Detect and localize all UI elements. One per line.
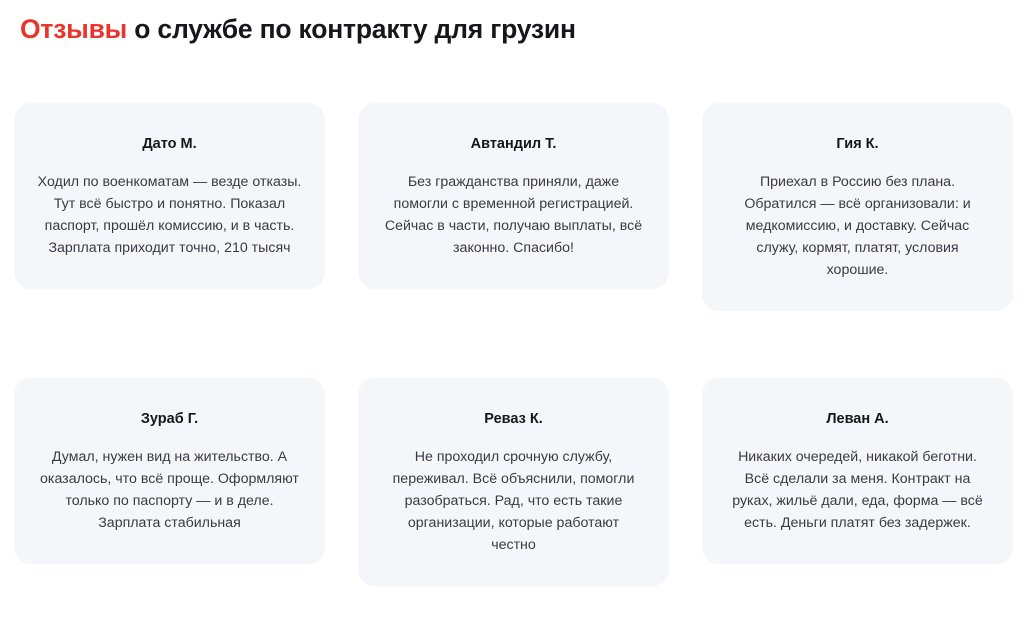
review-author: Реваз К. — [380, 410, 647, 428]
reviews-grid: Дато М. Ходил по военкоматам — везде отк… — [14, 103, 1013, 586]
page-title-rest: о службе по контракту для грузин — [127, 14, 576, 44]
page-title-accent: Отзывы — [20, 14, 127, 44]
review-card: Дато М. Ходил по военкоматам — везде отк… — [14, 103, 325, 289]
review-author: Леван А. — [724, 410, 991, 428]
review-card: Зураб Г. Думал, нужен вид на жительство.… — [14, 378, 325, 564]
page-title: Отзывы о службе по контракту для грузин — [20, 12, 576, 46]
review-card: Леван А. Никаких очередей, никакой бегот… — [702, 378, 1013, 564]
review-text: Без гражданства приняли, даже помогли с … — [380, 171, 647, 259]
review-text: Приехал в Россию без плана. Обратился — … — [724, 171, 991, 281]
review-author: Автандил Т. — [380, 135, 647, 153]
review-text: Никаких очередей, никакой беготни. Всё с… — [724, 446, 991, 534]
review-card: Автандил Т. Без гражданства приняли, даж… — [358, 103, 669, 289]
review-text: Ходил по военкоматам — везде отказы. Тут… — [36, 171, 303, 259]
review-text: Думал, нужен вид на жительство. А оказал… — [36, 446, 303, 534]
reviews-page: Отзывы о службе по контракту для грузин … — [0, 0, 1024, 623]
review-card: Гия К. Приехал в Россию без плана. Обрат… — [702, 103, 1013, 311]
review-text: Не проходил срочную службу, переживал. В… — [380, 446, 647, 556]
review-author: Дато М. — [36, 135, 303, 153]
review-card: Реваз К. Не проходил срочную службу, пер… — [358, 378, 669, 586]
review-author: Зураб Г. — [36, 410, 303, 428]
review-author: Гия К. — [724, 135, 991, 153]
